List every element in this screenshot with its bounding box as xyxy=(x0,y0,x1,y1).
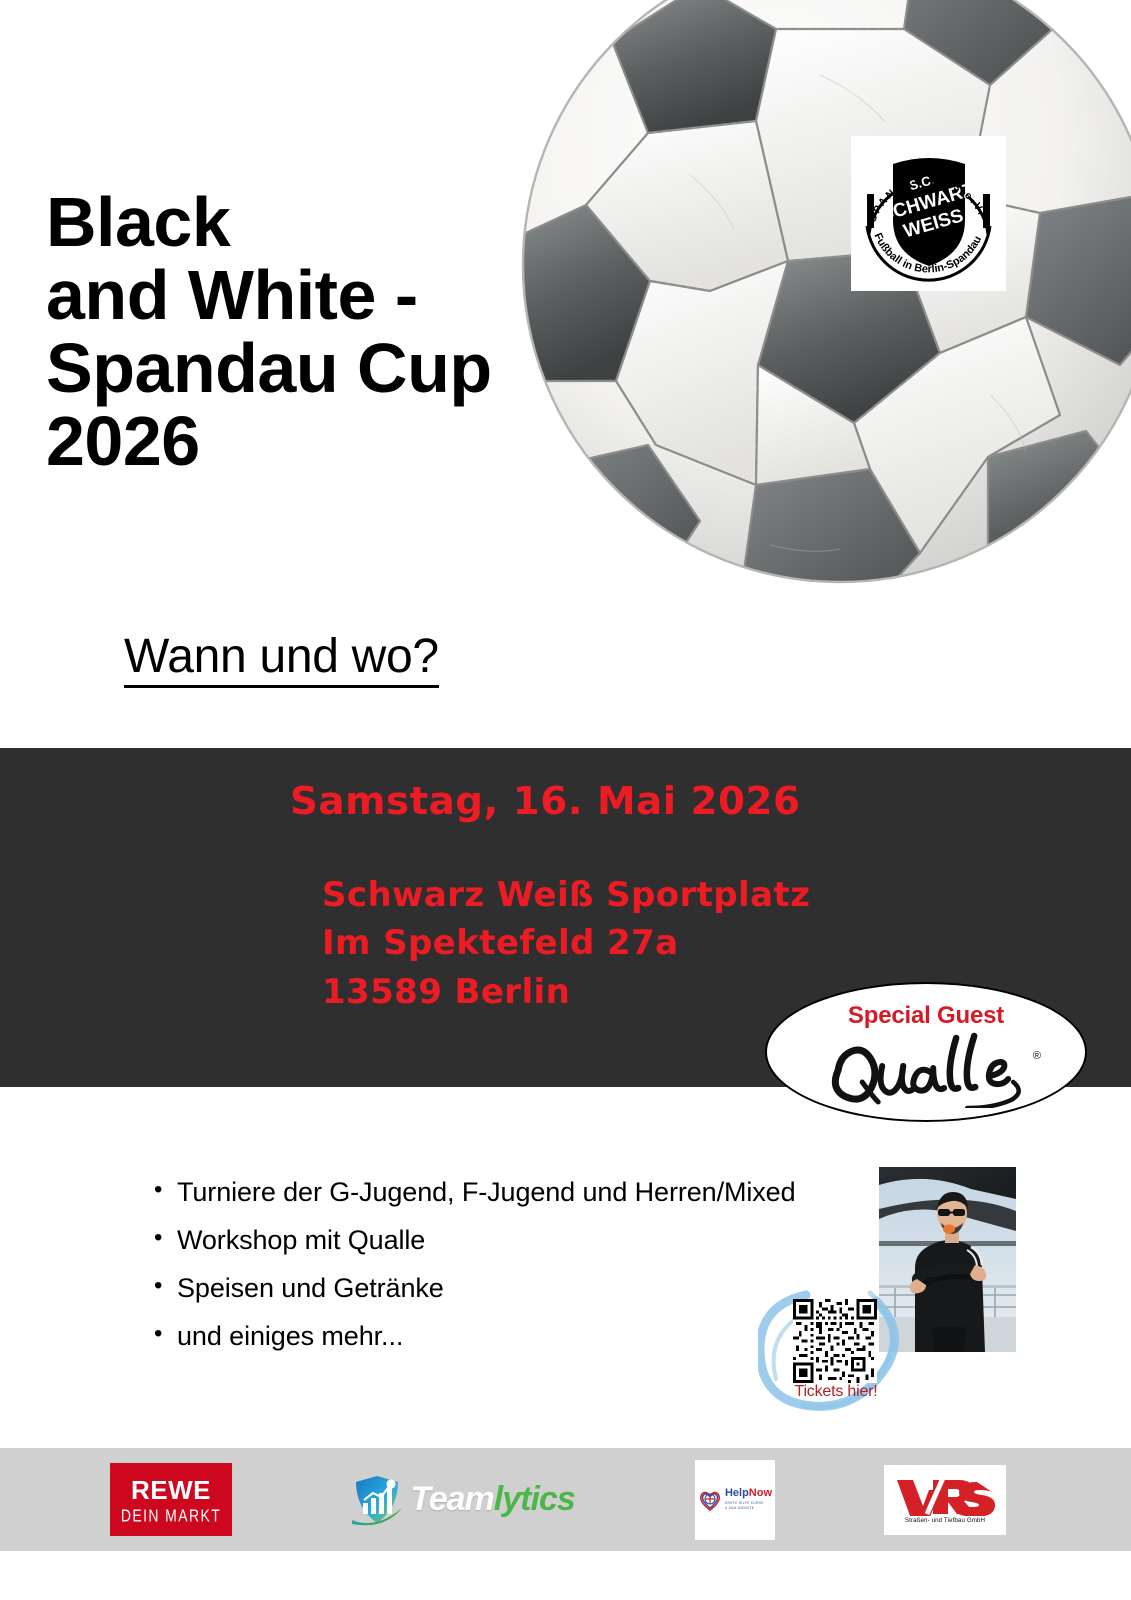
teamlytics-part2: lytics xyxy=(494,1480,575,1518)
event-address: Schwarz Weiß Sportplatz Im Spektefeld 27… xyxy=(322,871,810,1016)
helpnow-wordmark: HelpNow xyxy=(725,1488,772,1499)
tickets-caption: Tickets hier! xyxy=(758,1383,914,1401)
teamlytics-wordmark: Teamlytics xyxy=(410,1480,575,1519)
teamlytics-logo: Teamlytics xyxy=(350,1473,575,1527)
list-item-label: und einiges mehr... xyxy=(177,1321,403,1351)
list-item-label: Workshop mit Qualle xyxy=(177,1225,425,1255)
helpnow-part1: Help xyxy=(725,1487,749,1499)
vrs-wordmark-icon xyxy=(893,1476,997,1516)
bullet-icon: • xyxy=(154,1274,162,1298)
rewe-wordmark: REWE xyxy=(131,1477,211,1503)
sponsor-teamlytics[interactable]: Teamlytics xyxy=(340,1448,585,1551)
rewe-tagline: DEIN MARKT xyxy=(121,1506,221,1524)
soccer-ball-image xyxy=(520,0,1131,635)
list-item-label: Turniere der G-Jugend, F-Jugend und Herr… xyxy=(177,1177,796,1207)
event-date: Samstag, 16. Mai 2026 xyxy=(290,779,800,823)
list-item: •Workshop mit Qualle xyxy=(150,1227,890,1254)
rewe-logo: REWE DEIN MARKT xyxy=(110,1463,232,1536)
ticket-qr-code[interactable] xyxy=(793,1299,877,1383)
tickets-qr-block[interactable]: Tickets hier! xyxy=(758,1283,914,1418)
club-crest-logo: S.C. SCHWARZ WEISS SPANDAU 1953 e.V. Fuß… xyxy=(851,136,1006,291)
vrs-logo: Straßen- und Tiefbau GmbH xyxy=(884,1465,1006,1535)
teamlytics-part1: Team xyxy=(410,1480,494,1518)
helpnow-logo: HelpNow ERSTE HILFE KURSE & SAN-DIENSTE xyxy=(695,1460,775,1540)
sponsor-helpnow[interactable]: HelpNow ERSTE HILFE KURSE & SAN-DIENSTE xyxy=(695,1448,775,1551)
registered-mark-icon: ® xyxy=(1033,1050,1041,1062)
special-guest-label: Special Guest xyxy=(848,1002,1004,1030)
helpnow-tagline: ERSTE HILFE KURSE & SAN-DIENSTE xyxy=(725,1501,772,1511)
bullet-icon: • xyxy=(154,1178,162,1202)
sponsor-bar: REWE DEIN MARKT xyxy=(0,1448,1131,1551)
list-item: •Turniere der G-Jugend, F-Jugend und Her… xyxy=(150,1179,890,1206)
teamlytics-shield-icon xyxy=(350,1473,404,1527)
helpnow-part2: Now xyxy=(749,1487,772,1499)
bullet-icon: • xyxy=(154,1322,162,1346)
helpnow-heart-icon xyxy=(698,1488,722,1512)
special-guest-badge: Special Guest xyxy=(765,982,1087,1122)
bullet-icon: • xyxy=(154,1226,162,1250)
poster-root: S.C. SCHWARZ WEISS SPANDAU 1953 e.V. Fuß… xyxy=(0,0,1131,1600)
sponsor-vrs[interactable]: Straßen- und Tiefbau GmbH xyxy=(884,1448,1006,1551)
sponsor-rewe[interactable]: REWE DEIN MARKT xyxy=(110,1448,232,1551)
section-heading-when-where: Wann und wo? xyxy=(124,632,439,688)
vrs-tagline: Straßen- und Tiefbau GmbH xyxy=(905,1517,985,1524)
list-item-label: Speisen und Getränke xyxy=(177,1273,444,1303)
poster-title: Black and White - Spandau Cup 2026 xyxy=(46,186,606,479)
qualle-signature: ® xyxy=(767,1028,1085,1100)
